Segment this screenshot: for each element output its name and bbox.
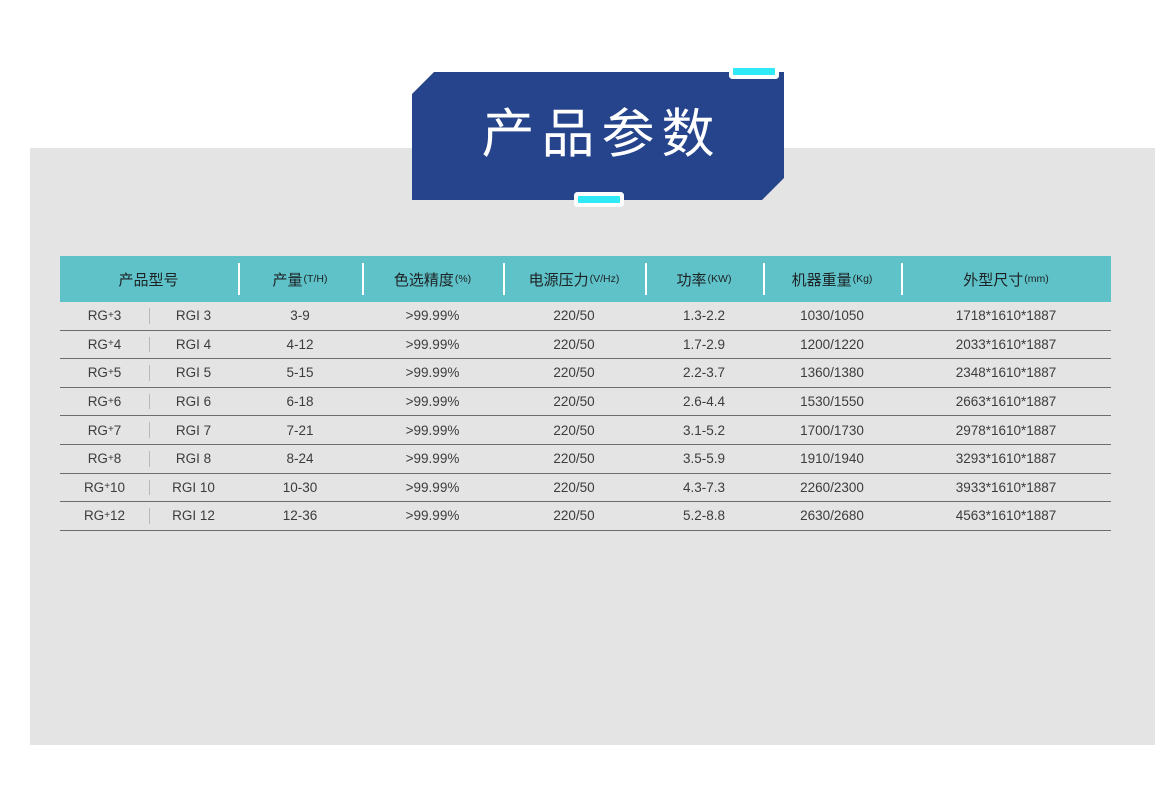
- cell-model: RG+12RGI 12: [60, 502, 238, 530]
- table-row: RG+7RGI 77-21>99.99%220/503.1-5.21700/17…: [60, 416, 1111, 445]
- cell-model-primary: RG+12: [60, 502, 149, 530]
- cell-voltage: 220/50: [503, 502, 645, 530]
- column-header-power: 功率(KW): [645, 256, 763, 302]
- cell-capacity: 4-12: [238, 331, 362, 359]
- cell-weight: 1910/1940: [763, 445, 901, 473]
- column-header-size-label: 外型尺寸: [963, 269, 1023, 290]
- cell-model-primary: RG+4: [60, 331, 149, 359]
- table-row: RG+5RGI 55-15>99.99%220/502.2-3.71360/13…: [60, 359, 1111, 388]
- cell-voltage: 220/50: [503, 416, 645, 444]
- cell-size: 2663*1610*1887: [901, 388, 1111, 416]
- cell-accuracy: >99.99%: [362, 502, 503, 530]
- column-header-capacity: 产量(T/H): [238, 256, 362, 302]
- column-header-capacity-label: 产量: [273, 269, 303, 290]
- cell-accuracy: >99.99%: [362, 359, 503, 387]
- cell-size: 3293*1610*1887: [901, 445, 1111, 473]
- cell-size: 1718*1610*1887: [901, 302, 1111, 330]
- cell-model: RG+3RGI 3: [60, 302, 238, 330]
- column-header-model-label: 产品型号: [118, 269, 178, 290]
- cell-power: 5.2-8.8: [645, 502, 763, 530]
- table-row: RG+4RGI 44-12>99.99%220/501.7-2.91200/12…: [60, 331, 1111, 360]
- cell-model-alt: RGI 7: [149, 416, 238, 444]
- table-row: RG+3RGI 33-9>99.99%220/501.3-2.21030/105…: [60, 302, 1111, 331]
- column-header-accuracy: 色选精度(%): [362, 256, 503, 302]
- column-header-size-unit: (mm): [1024, 273, 1049, 285]
- cell-model-alt: RGI 10: [149, 474, 238, 502]
- cell-capacity: 10-30: [238, 474, 362, 502]
- cell-model-primary: RG+6: [60, 388, 149, 416]
- cell-model-alt: RGI 12: [149, 502, 238, 530]
- cell-model: RG+5RGI 5: [60, 359, 238, 387]
- cell-model-primary: RG+7: [60, 416, 149, 444]
- column-header-weight-label: 机器重量: [792, 269, 852, 290]
- table-row: RG+8RGI 88-24>99.99%220/503.5-5.91910/19…: [60, 445, 1111, 474]
- column-header-weight-unit: (Kg): [853, 273, 873, 285]
- column-header-voltage: 电源压力(V/Hz): [503, 256, 645, 302]
- product-spec-table: 产品型号 产量(T/H) 色选精度(%) 电源压力(V/Hz) 功率(KW) 机…: [60, 256, 1111, 531]
- cell-size: 3933*1610*1887: [901, 474, 1111, 502]
- cell-accuracy: >99.99%: [362, 388, 503, 416]
- cell-weight: 1360/1380: [763, 359, 901, 387]
- cell-model-primary: RG+10: [60, 474, 149, 502]
- cell-capacity: 5-15: [238, 359, 362, 387]
- cell-capacity: 12-36: [238, 502, 362, 530]
- column-header-accuracy-label: 色选精度: [394, 269, 454, 290]
- cell-weight: 1700/1730: [763, 416, 901, 444]
- cell-capacity: 3-9: [238, 302, 362, 330]
- cell-accuracy: >99.99%: [362, 445, 503, 473]
- table-row: RG+12RGI 1212-36>99.99%220/505.2-8.82630…: [60, 502, 1111, 531]
- cell-model-alt: RGI 6: [149, 388, 238, 416]
- column-header-size: 外型尺寸(mm): [901, 256, 1111, 302]
- cell-voltage: 220/50: [503, 388, 645, 416]
- page-title: 产品参数: [412, 72, 784, 200]
- cell-accuracy: >99.99%: [362, 416, 503, 444]
- cell-power: 1.7-2.9: [645, 331, 763, 359]
- cell-weight: 2630/2680: [763, 502, 901, 530]
- cell-model: RG+8RGI 8: [60, 445, 238, 473]
- cell-model-alt: RGI 4: [149, 331, 238, 359]
- cell-weight: 2260/2300: [763, 474, 901, 502]
- cell-power: 1.3-2.2: [645, 302, 763, 330]
- cell-weight: 1530/1550: [763, 388, 901, 416]
- cell-power: 4.3-7.3: [645, 474, 763, 502]
- cell-voltage: 220/50: [503, 331, 645, 359]
- cell-power: 3.1-5.2: [645, 416, 763, 444]
- cell-model-primary: RG+3: [60, 302, 149, 330]
- cell-weight: 1030/1050: [763, 302, 901, 330]
- cell-capacity: 6-18: [238, 388, 362, 416]
- cell-voltage: 220/50: [503, 474, 645, 502]
- cell-power: 2.2-3.7: [645, 359, 763, 387]
- column-header-model: 产品型号: [60, 256, 238, 302]
- cell-capacity: 8-24: [238, 445, 362, 473]
- cell-model: RG+4RGI 4: [60, 331, 238, 359]
- cell-model-primary: RG+5: [60, 359, 149, 387]
- column-header-voltage-unit: (V/Hz): [590, 273, 620, 285]
- cell-voltage: 220/50: [503, 302, 645, 330]
- cell-accuracy: >99.99%: [362, 331, 503, 359]
- cell-size: 2348*1610*1887: [901, 359, 1111, 387]
- page-title-banner: 产品参数: [412, 72, 784, 200]
- cell-model: RG+6RGI 6: [60, 388, 238, 416]
- cell-capacity: 7-21: [238, 416, 362, 444]
- cell-accuracy: >99.99%: [362, 302, 503, 330]
- cell-power: 2.6-4.4: [645, 388, 763, 416]
- column-header-weight: 机器重量(Kg): [763, 256, 901, 302]
- cell-voltage: 220/50: [503, 359, 645, 387]
- cell-size: 2033*1610*1887: [901, 331, 1111, 359]
- cell-model-primary: RG+8: [60, 445, 149, 473]
- cell-power: 3.5-5.9: [645, 445, 763, 473]
- cell-model: RG+7RGI 7: [60, 416, 238, 444]
- table-header-row: 产品型号 产量(T/H) 色选精度(%) 电源压力(V/Hz) 功率(KW) 机…: [60, 256, 1111, 302]
- table-body: RG+3RGI 33-9>99.99%220/501.3-2.21030/105…: [60, 302, 1111, 531]
- cell-voltage: 220/50: [503, 445, 645, 473]
- cell-size: 4563*1610*1887: [901, 502, 1111, 530]
- column-header-capacity-unit: (T/H): [304, 273, 328, 285]
- column-header-power-unit: (KW): [708, 273, 732, 285]
- column-header-voltage-label: 电源压力: [529, 269, 589, 290]
- cell-model: RG+10RGI 10: [60, 474, 238, 502]
- cell-accuracy: >99.99%: [362, 474, 503, 502]
- column-header-accuracy-unit: (%): [455, 273, 471, 285]
- cell-model-alt: RGI 3: [149, 302, 238, 330]
- cell-size: 2978*1610*1887: [901, 416, 1111, 444]
- column-header-power-label: 功率: [677, 269, 707, 290]
- cell-model-alt: RGI 5: [149, 359, 238, 387]
- table-row: RG+10RGI 1010-30>99.99%220/504.3-7.32260…: [60, 474, 1111, 503]
- cell-weight: 1200/1220: [763, 331, 901, 359]
- table-row: RG+6RGI 66-18>99.99%220/502.6-4.41530/15…: [60, 388, 1111, 417]
- cell-model-alt: RGI 8: [149, 445, 238, 473]
